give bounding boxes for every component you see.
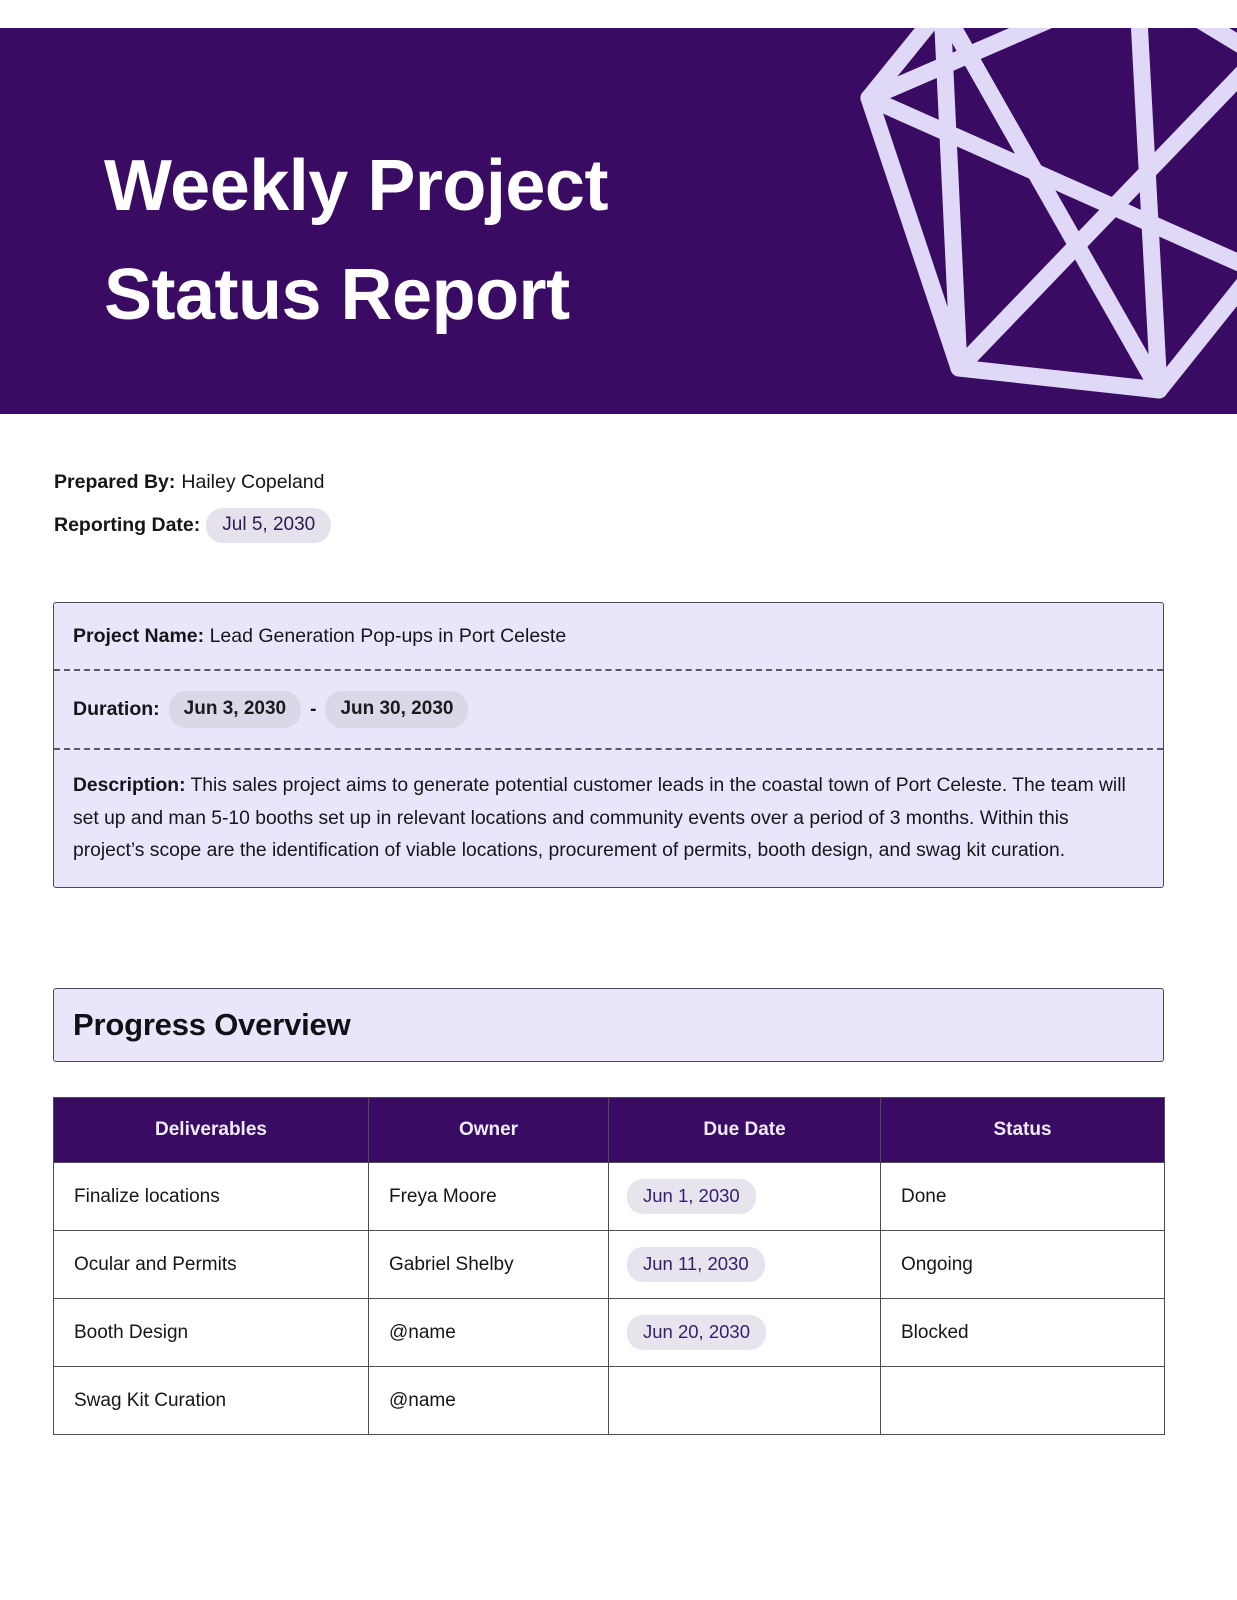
prepared-by-label: Prepared By: (54, 470, 175, 495)
cell-deliverable[interactable]: Swag Kit Curation (54, 1367, 369, 1435)
cell-due-date[interactable]: Jun 20, 2030 (609, 1299, 881, 1367)
cell-deliverable[interactable]: Finalize locations (54, 1163, 369, 1231)
progress-overview-title: Progress Overview (73, 1007, 350, 1043)
prepared-by-value: Hailey Copeland (181, 470, 324, 495)
cell-owner[interactable]: Freya Moore (369, 1163, 609, 1231)
progress-overview-header: Progress Overview (53, 988, 1164, 1062)
due-date-pill[interactable]: Jun 20, 2030 (627, 1315, 766, 1349)
reporting-date-row: Reporting Date: Jul 5, 2030 (54, 508, 754, 543)
due-date-pill[interactable]: Jun 1, 2030 (627, 1179, 756, 1213)
duration-separator: - (310, 699, 316, 721)
cell-owner[interactable]: @name (369, 1367, 609, 1435)
project-name-label: Project Name: (73, 625, 204, 647)
duration-start-pill[interactable]: Jun 3, 2030 (169, 691, 301, 728)
project-name-value: Lead Generation Pop-ups in Port Celeste (210, 625, 567, 647)
cell-owner[interactable]: @name (369, 1299, 609, 1367)
reporting-date-pill[interactable]: Jul 5, 2030 (206, 508, 331, 543)
cell-due-date[interactable] (609, 1367, 881, 1435)
page-title-line-2: Status Report (104, 241, 844, 350)
report-meta: Prepared By: Hailey Copeland Reporting D… (54, 470, 754, 543)
table-row: Ocular and Permits Gabriel Shelby Jun 11… (54, 1231, 1165, 1299)
table-body: Finalize locations Freya Moore Jun 1, 20… (54, 1163, 1165, 1435)
cell-status[interactable]: Done (881, 1163, 1165, 1231)
table-header-row: Deliverables Owner Due Date Status (54, 1098, 1165, 1163)
cell-status[interactable]: Blocked (881, 1299, 1165, 1367)
description-label: Description: (73, 775, 186, 796)
table-head: Deliverables Owner Due Date Status (54, 1098, 1165, 1163)
table-row: Swag Kit Curation @name (54, 1367, 1165, 1435)
cell-owner[interactable]: Gabriel Shelby (369, 1231, 609, 1299)
cell-due-date[interactable]: Jun 11, 2030 (609, 1231, 881, 1299)
description-line: Description: This sales project aims to … (73, 770, 1144, 867)
prepared-by-row: Prepared By: Hailey Copeland (54, 470, 754, 495)
project-details-card: Project Name: Lead Generation Pop-ups in… (53, 602, 1164, 888)
column-header-due-date[interactable]: Due Date (609, 1098, 881, 1163)
duration-row: Duration: Jun 3, 2030 - Jun 30, 2030 (73, 691, 1144, 728)
column-header-status[interactable]: Status (881, 1098, 1165, 1163)
duration-label: Duration: (73, 698, 160, 721)
duration-end-pill[interactable]: Jun 30, 2030 (325, 691, 468, 728)
cell-deliverable[interactable]: Ocular and Permits (54, 1231, 369, 1299)
page-title-line-1: Weekly Project (104, 132, 844, 241)
project-duration-section: Duration: Jun 3, 2030 - Jun 30, 2030 (54, 671, 1163, 750)
header-banner: Weekly Project Status Report (0, 28, 1237, 414)
column-header-deliverables[interactable]: Deliverables (54, 1098, 369, 1163)
page-title: Weekly Project Status Report (104, 132, 844, 351)
report-page: Weekly Project Status Report Prepared By… (0, 0, 1237, 1600)
project-description-section: Description: This sales project aims to … (54, 750, 1163, 887)
reporting-date-label: Reporting Date: (54, 513, 200, 538)
table-row: Booth Design @name Jun 20, 2030 Blocked (54, 1299, 1165, 1367)
cell-deliverable[interactable]: Booth Design (54, 1299, 369, 1367)
progress-overview-table: Deliverables Owner Due Date Status Final… (53, 1097, 1165, 1435)
cell-status[interactable] (881, 1367, 1165, 1435)
table-row: Finalize locations Freya Moore Jun 1, 20… (54, 1163, 1165, 1231)
cell-due-date[interactable]: Jun 1, 2030 (609, 1163, 881, 1231)
cell-status[interactable]: Ongoing (881, 1231, 1165, 1299)
column-header-owner[interactable]: Owner (369, 1098, 609, 1163)
description-value: This sales project aims to generate pote… (73, 775, 1126, 861)
due-date-pill[interactable]: Jun 11, 2030 (627, 1247, 765, 1281)
project-name-section: Project Name: Lead Generation Pop-ups in… (54, 603, 1163, 671)
project-name-line: Project Name: Lead Generation Pop-ups in… (73, 623, 1144, 649)
polyhedron-wireframe-icon (807, 28, 1237, 414)
